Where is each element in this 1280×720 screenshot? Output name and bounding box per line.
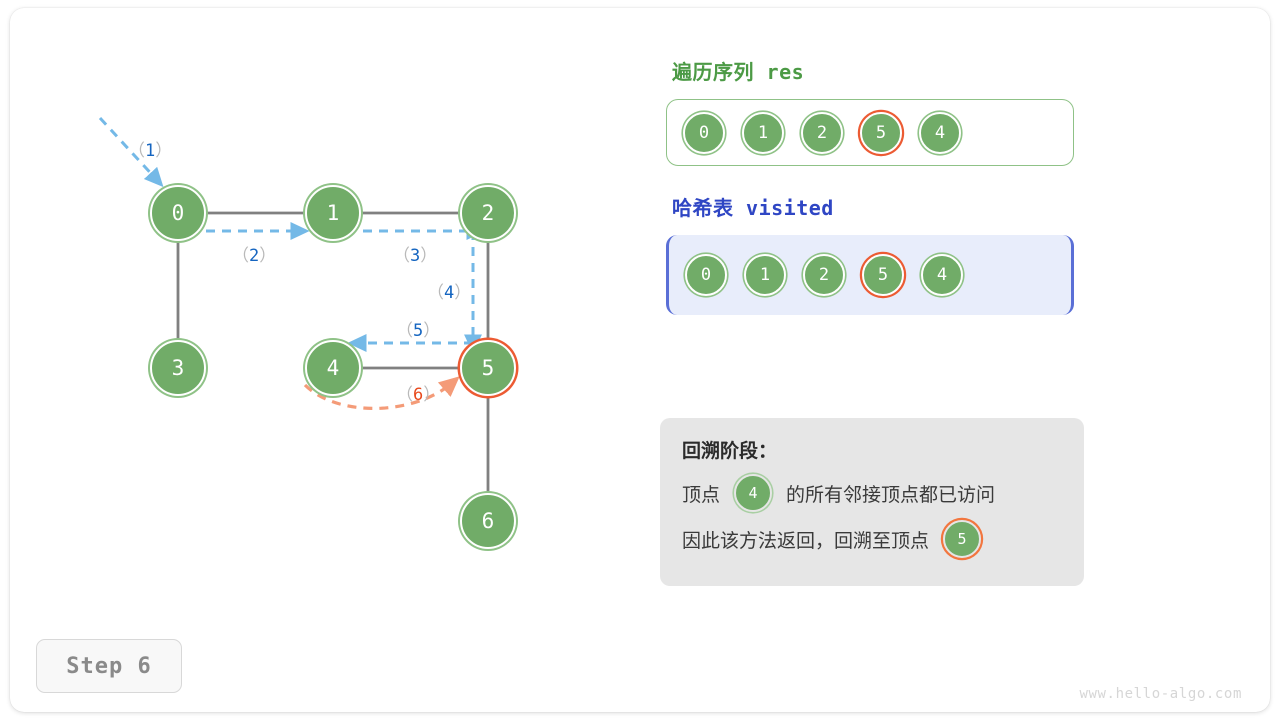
graph-node-label: 1 [327,201,340,225]
step-label-number: 4 [444,283,454,303]
step-label-paren-open: （ [427,283,444,303]
visited-chip-2: 2 [803,254,845,296]
step-label-paren-open: （ [396,321,413,341]
graph-node-6: 6 [460,493,516,549]
step-label-3: （3） [393,241,437,266]
graph-node-1: 1 [305,185,361,241]
step-label-number: 5 [413,321,423,341]
graph-node-label: 0 [172,201,185,225]
step-label-paren-close: ） [454,283,471,303]
res-chip-4: 4 [919,112,961,154]
graph-node-2: 2 [460,185,516,241]
note-heading: 回溯阶段： [682,436,1062,463]
res-chip-0: 0 [683,112,725,154]
res-chip-5: 5 [860,112,902,154]
step-label-6: （6） [396,380,440,405]
note-line-1: 顶点 4 的所有邻接顶点都已访问 [682,474,1062,512]
explanation-note-box: 回溯阶段： 顶点 4 的所有邻接顶点都已访问 因此该方法返回，回溯至顶点 5 [660,418,1084,586]
note-line-1-before: 顶点 [682,480,720,507]
step-label-number: 3 [410,246,420,266]
graph-node-0: 0 [150,185,206,241]
graph-node-label: 6 [482,509,495,533]
graph-node-label: 2 [482,201,495,225]
graph-node-3: 3 [150,340,206,396]
graph-node-4: 4 [305,340,361,396]
res-chip-2: 2 [801,112,843,154]
visited-chip-5: 5 [862,254,904,296]
step-label-paren-open: （ [396,385,413,405]
graph-panel: 0123456 （1）（2）（3）（4）（5）（6） [60,100,620,580]
step-badge: Step 6 [36,639,182,693]
step-label-2: （2） [232,241,276,266]
step-label-paren-close: ） [259,246,276,266]
visited-hashmap-box: 01254 [666,235,1074,315]
visited-chip-0: 0 [685,254,727,296]
note-line-2-before: 因此该方法返回，回溯至顶点 [682,526,929,553]
screenshot-root: 0123456 （1）（2）（3）（4）（5）（6） 遍历序列 res 0125… [0,0,1280,720]
note-chip-vertex-4: 4 [734,474,772,512]
res-title: 遍历序列 res [672,56,1086,85]
graph-node-label: 4 [327,356,340,380]
step-label-5: （5） [396,316,440,341]
note-chip-vertex-5: 5 [943,520,981,558]
visited-chip-4: 4 [921,254,963,296]
graph-node-5: 5 [460,340,516,396]
step-label-paren-close: ） [423,385,440,405]
graph-node-label: 5 [482,356,495,380]
right-column: 遍历序列 res 01254 哈希表 visited 01254 [666,56,1086,315]
step-label-paren-close: ） [423,321,440,341]
step-label-paren-open: （ [393,246,410,266]
note-line-1-after: 的所有邻接顶点都已访问 [786,480,995,507]
step-label-number: 6 [413,385,423,405]
visited-title: 哈希表 visited [672,192,1086,221]
res-chip-1: 1 [742,112,784,154]
watermark: www.hello-algo.com [1079,686,1242,702]
graph-node-label: 3 [172,356,185,380]
step-label-4: （4） [427,278,471,303]
step-label-number: 2 [249,246,259,266]
step-label-paren-close: ） [420,246,437,266]
step-label-paren-close: ） [155,141,172,161]
res-sequence-box: 01254 [666,99,1074,166]
note-line-2: 因此该方法返回，回溯至顶点 5 [682,520,1062,558]
step-label-1: （1） [128,136,172,161]
step-label-paren-open: （ [232,246,249,266]
step-label-paren-open: （ [128,141,145,161]
visited-chip-1: 1 [744,254,786,296]
step-label-number: 1 [145,141,155,161]
